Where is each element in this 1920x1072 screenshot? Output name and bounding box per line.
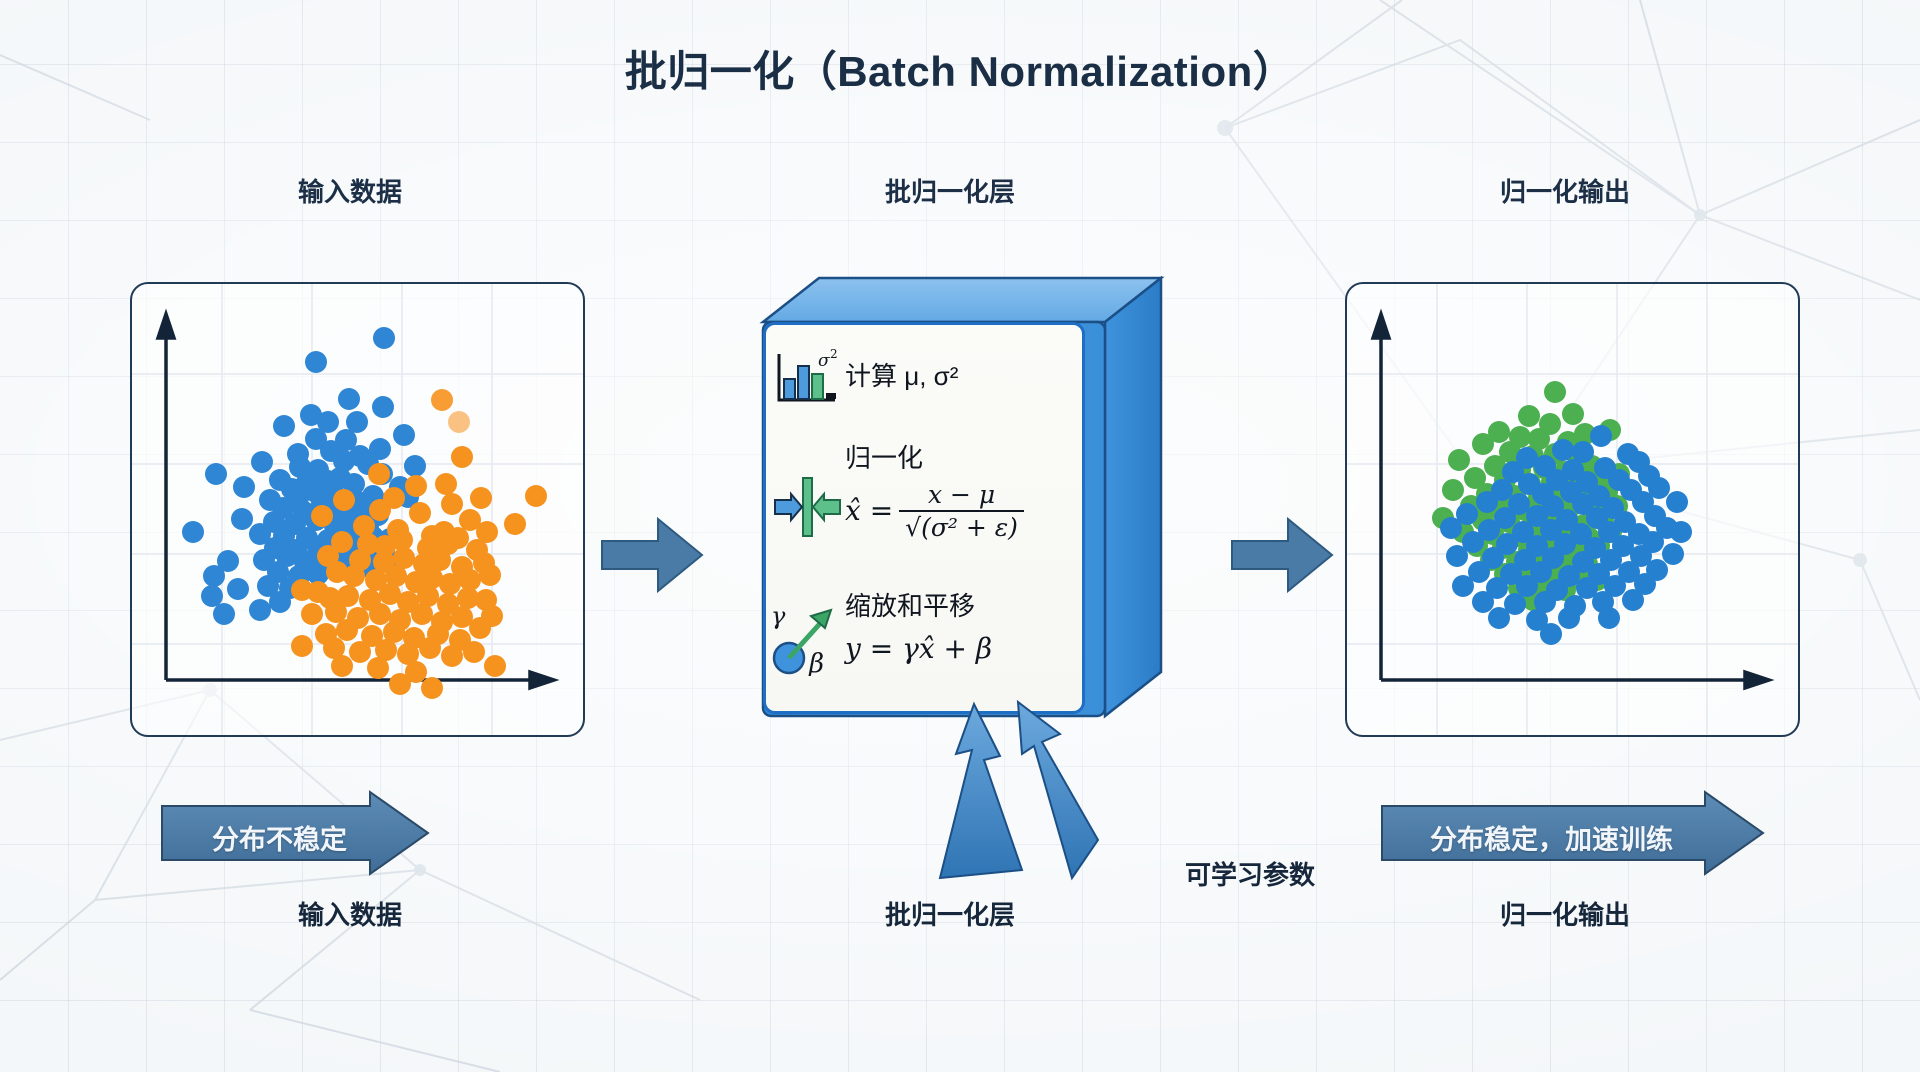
center-panel-title: 批归一化层 (740, 172, 1160, 209)
batchnorm-layer-box: σ 2 计算 μ, σ² 归一化 (745, 276, 1165, 726)
bn-normalize-numerator: x − μ (899, 479, 1024, 510)
output-scatter-plot (1347, 284, 1798, 735)
svg-text:2: 2 (830, 348, 838, 361)
left-flow-label: 分布不稳定 (212, 818, 347, 857)
input-scatter-plot (132, 284, 583, 735)
left-bottom-label: 输入数据 (130, 895, 570, 932)
learnable-params-label: 可学习参数 (1185, 855, 1315, 892)
compress-arrows-icon (769, 442, 845, 542)
batchnorm-steps: σ 2 计算 μ, σ² 归一化 (763, 322, 1085, 714)
bn-step-scale-shift: γ β 缩放和平移 y = γx̂ + β (769, 590, 1085, 676)
right-bottom-label: 归一化输出 (1345, 895, 1785, 932)
bn-scale-formula: y = γx̂ + β (845, 631, 992, 666)
output-scatter-card (1345, 282, 1800, 737)
bn-step-normalize-heading: 归一化 (845, 442, 1024, 475)
bn-step-compute-heading: 计算 μ, σ² (845, 361, 958, 391)
bn-step-normalize: 归一化 x̂ = x − μ √(σ² + ε) (769, 442, 1085, 543)
diagram-canvas: 批归一化（Batch Normalization） 输入数据 (0, 0, 1920, 1072)
scatter-series-blue-out (1440, 425, 1692, 645)
right-flow-label: 分布稳定，加速训练 (1430, 818, 1673, 857)
svg-text:σ: σ (818, 351, 830, 371)
bar-chart-sigma-icon: σ 2 (769, 348, 845, 410)
bn-normalize-denominator: √(σ² + ε) (899, 510, 1024, 543)
bn-step-scale-heading: 缩放和平移 (845, 590, 992, 623)
learnable-params-callout-arrows (930, 700, 1180, 890)
bn-normalize-formula: x̂ = x − μ √(σ² + ε) (845, 479, 1024, 544)
gamma-beta-vector-icon: γ β (769, 590, 845, 676)
flow-arrow-input-to-bn (600, 515, 705, 595)
left-panel-title: 输入数据 (130, 172, 570, 209)
center-bottom-label: 批归一化层 (740, 895, 1160, 932)
bn-step-compute: σ 2 计算 μ, σ² (769, 348, 1081, 410)
bn-normalize-lhs: x̂ = (845, 493, 893, 528)
gamma-symbol: γ (771, 602, 786, 630)
beta-symbol: β (808, 649, 824, 676)
right-panel-title: 归一化输出 (1345, 172, 1785, 209)
flow-arrow-bn-to-output (1230, 515, 1335, 595)
page-title: 批归一化（Batch Normalization） (0, 38, 1920, 99)
input-scatter-card (130, 282, 585, 737)
